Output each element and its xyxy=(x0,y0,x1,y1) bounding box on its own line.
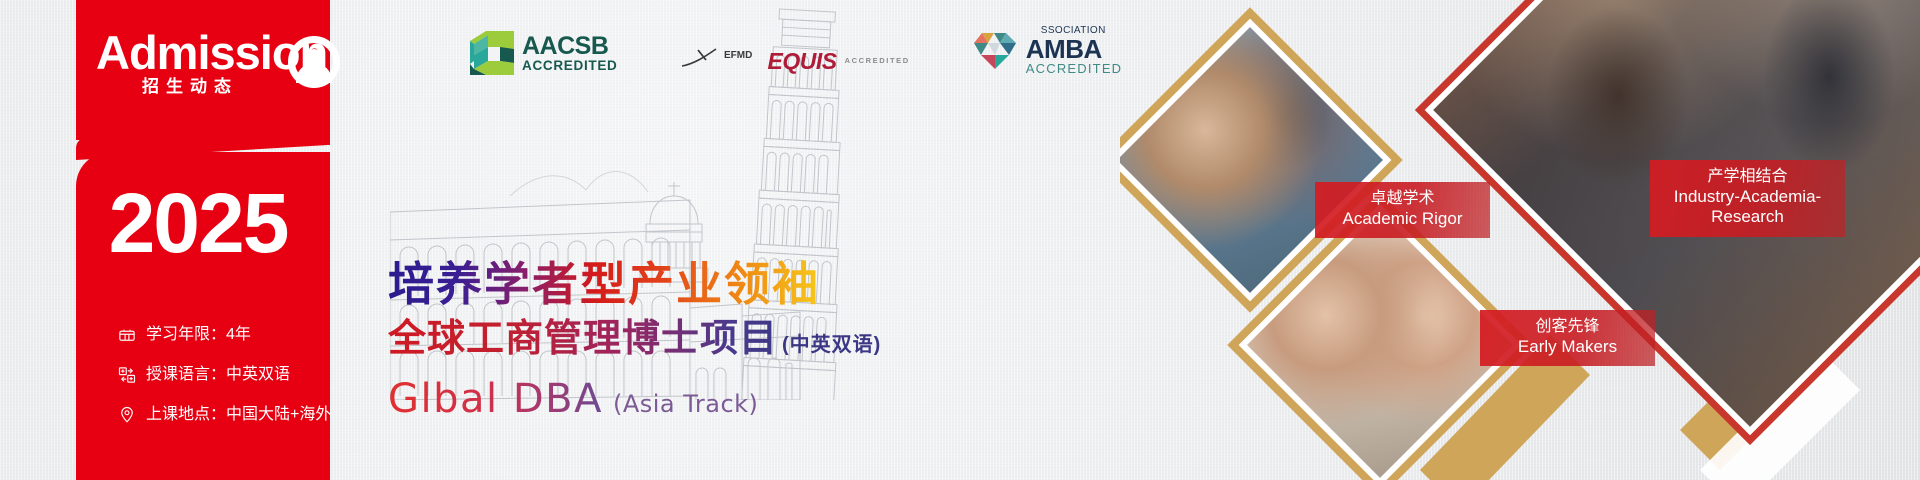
info-row-language: 授课语言：中英双语 xyxy=(118,355,348,395)
feature-chip-early-makers-en: Early Makers xyxy=(1498,337,1637,358)
headline-program-en-sub: (Asia Track) xyxy=(613,390,758,418)
headline-tagline: 培养学者型产业领袖 xyxy=(388,258,881,310)
feature-chip-academic-rigor: 卓越学术 Academic Rigor xyxy=(1315,182,1490,238)
info-text-duration: 学习年限：4年 xyxy=(146,315,251,355)
headline-program-en: Glbal DBA xyxy=(388,376,603,422)
feature-chip-industry-academia-en: Industry-Academia-Research xyxy=(1668,187,1827,228)
info-row-location: 上课地点：中国大陆+海外 xyxy=(118,395,348,435)
feature-chip-industry-academia: 产学相结合 Industry-Academia-Research xyxy=(1650,160,1845,237)
feature-chip-academic-rigor-en: Academic Rigor xyxy=(1333,209,1472,230)
feature-chip-early-makers: 创客先锋 Early Makers xyxy=(1480,310,1655,366)
program-info-list: 学习年限：4年 授课语言：中英双语 xyxy=(118,315,348,435)
accreditation-equis: EFMD EQUIS ACCREDITED xyxy=(680,47,910,75)
left-red-panel: Admission 招生动态 2025 学习年限：4年 xyxy=(0,0,330,480)
headline-program-en-row: Glbal DBA (Asia Track) xyxy=(388,376,881,422)
feature-chip-industry-academia-cn: 产学相结合 xyxy=(1668,167,1827,187)
equis-wordmark: EQUIS xyxy=(768,50,837,73)
year-label: 2025 xyxy=(0,175,330,271)
admission-banner: Admission 招生动态 2025 学习年限：4年 xyxy=(0,0,1920,480)
aacsb-line2: ACCREDITED xyxy=(522,59,618,73)
headline-block: 培养学者型产业领袖 全球工商管理博士项目 (中英双语) Glbal DBA (A… xyxy=(388,258,881,422)
headline-program-name: 全球工商管理博士项目 (中英双语) xyxy=(388,316,881,368)
admission-logo: Admission 招生动态 xyxy=(96,28,336,110)
admission-chinese-label: 招生动态 xyxy=(142,72,238,97)
info-row-duration: 学习年限：4年 xyxy=(118,315,348,355)
person-circle-icon xyxy=(288,36,340,88)
aacsb-logo-icon xyxy=(470,31,514,75)
amba-logo-text: SSOCIATION AMBA ACCREDITED xyxy=(1026,26,1123,75)
language-icon xyxy=(118,366,136,384)
feature-chip-academic-rigor-cn: 卓越学术 xyxy=(1333,189,1472,209)
aacsb-logo-text: AACSB ACCREDITED xyxy=(522,34,618,73)
info-text-location: 上课地点：中国大陆+海外 xyxy=(146,395,331,435)
efmd-equis-logo-icon: EFMD xyxy=(680,47,760,73)
feature-chip-early-makers-cn: 创客先锋 xyxy=(1498,317,1637,337)
equis-accredited-label: ACCREDITED xyxy=(845,57,910,65)
amba-line2: AMBA xyxy=(1026,36,1123,62)
info-text-language: 授课语言：中英双语 xyxy=(146,355,290,395)
headline-program-cn: 全球工商管理博士项目 xyxy=(388,316,778,362)
headline-program-suffix: (中英双语) xyxy=(782,322,881,368)
svg-text:EFMD: EFMD xyxy=(724,50,752,61)
accreditation-aacsb: AACSB ACCREDITED xyxy=(470,31,618,75)
accreditation-logo-row: AACSB ACCREDITED EFMD EQUIS ACCREDITED xyxy=(470,26,1122,75)
aacsb-line1: AACSB xyxy=(522,34,618,59)
photo-collage: 卓越学术 Academic Rigor 产学相结合 Industry-Acade… xyxy=(1120,0,1920,480)
amba-line3: ACCREDITED xyxy=(1026,62,1123,75)
location-pin-icon xyxy=(118,406,136,424)
amba-diamond-logo-icon xyxy=(972,31,1018,71)
accreditation-amba: SSOCIATION AMBA ACCREDITED xyxy=(972,26,1123,75)
calendar-icon xyxy=(118,326,136,344)
